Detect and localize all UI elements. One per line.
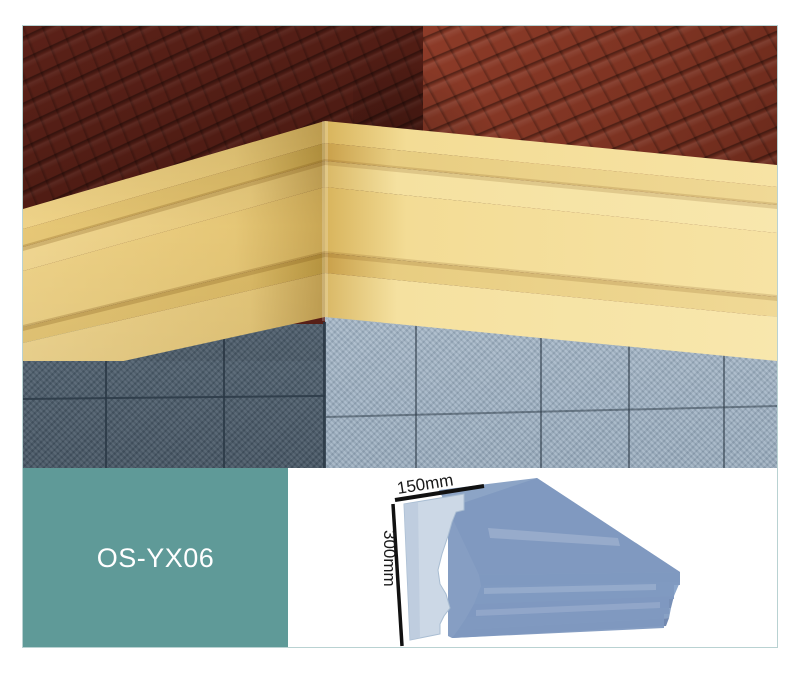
product-code-label: OS-YX06: [97, 543, 215, 574]
product-image-page: OS-YX06: [0, 0, 800, 687]
cornice-moulding: [23, 121, 777, 361]
cornice-profile-diagram: 150mm 300mm: [288, 468, 777, 648]
product-code-panel: OS-YX06: [23, 468, 288, 648]
product-photo: [23, 26, 777, 468]
profile-diagram-panel: 150mm 300mm: [288, 468, 777, 648]
cornice-left-wing: [23, 121, 325, 361]
height-dimension-label: 300mm: [380, 530, 399, 587]
product-info-strip: OS-YX06: [23, 468, 777, 648]
cornice-corner-mitre: [322, 121, 328, 321]
cornice-right-wing: [325, 121, 777, 361]
profile-front-face-shade: [404, 502, 420, 640]
product-card-frame: OS-YX06: [22, 25, 778, 648]
height-dimension: 300mm: [380, 504, 402, 646]
